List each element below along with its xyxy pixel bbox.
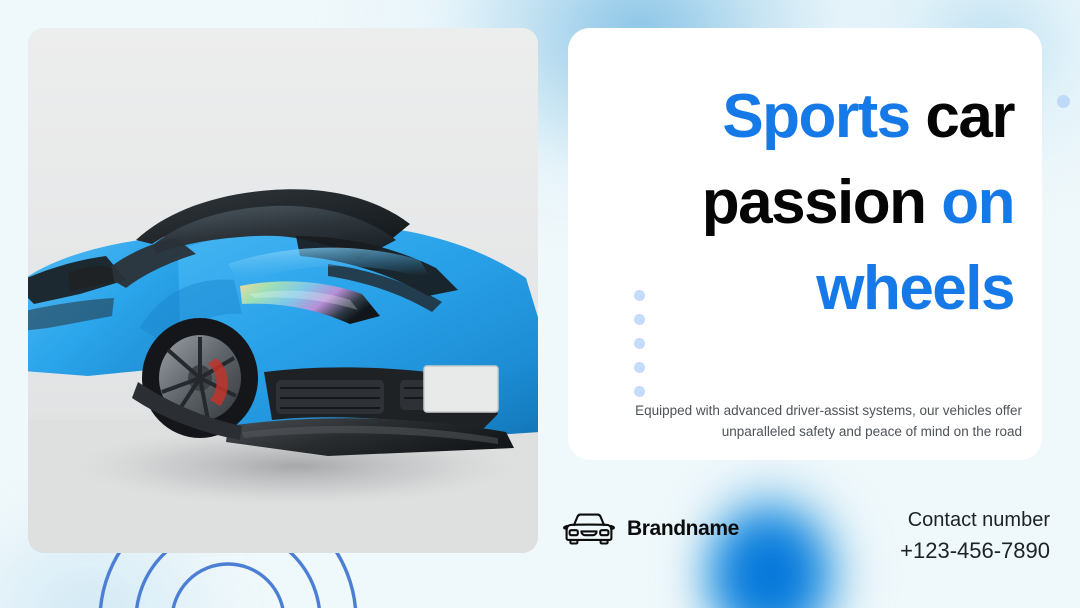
headline-segment-accent: Sports — [722, 82, 925, 151]
headline-card: Sports car passion on wheels Equipped wi… — [568, 28, 1042, 460]
bullet-dot — [634, 338, 645, 349]
contact-block: Contact number +123-456-7890 — [900, 505, 1050, 567]
bullet-dot — [634, 386, 645, 397]
bullet-dots-decoration — [634, 290, 645, 397]
headline-line-3: wheels — [596, 246, 1014, 332]
headline-line-1: Sports car — [596, 74, 1014, 160]
headline-segment-plain: car — [925, 82, 1014, 151]
headline-segment-accent: wheels — [816, 254, 1014, 323]
car-front-icon — [563, 512, 615, 546]
bullet-dot — [634, 362, 645, 373]
headline-line-2: passion on — [596, 160, 1014, 246]
car-photo — [28, 28, 538, 553]
contact-number[interactable]: +123-456-7890 — [900, 535, 1050, 567]
body-paragraph: Equipped with advanced driver-assist sys… — [628, 400, 1022, 442]
right-edge-accent-dot — [1057, 95, 1070, 108]
page-title: Sports car passion on wheels — [596, 74, 1014, 332]
headline-segment-accent: on — [941, 168, 1014, 237]
bullet-dot — [634, 290, 645, 301]
brand-name-label: Brandname — [627, 517, 739, 541]
bullet-dot — [634, 314, 645, 325]
brand-logo[interactable]: Brandname — [563, 512, 739, 546]
headline-segment-plain: passion — [702, 168, 942, 237]
contact-label: Contact number — [900, 505, 1050, 535]
